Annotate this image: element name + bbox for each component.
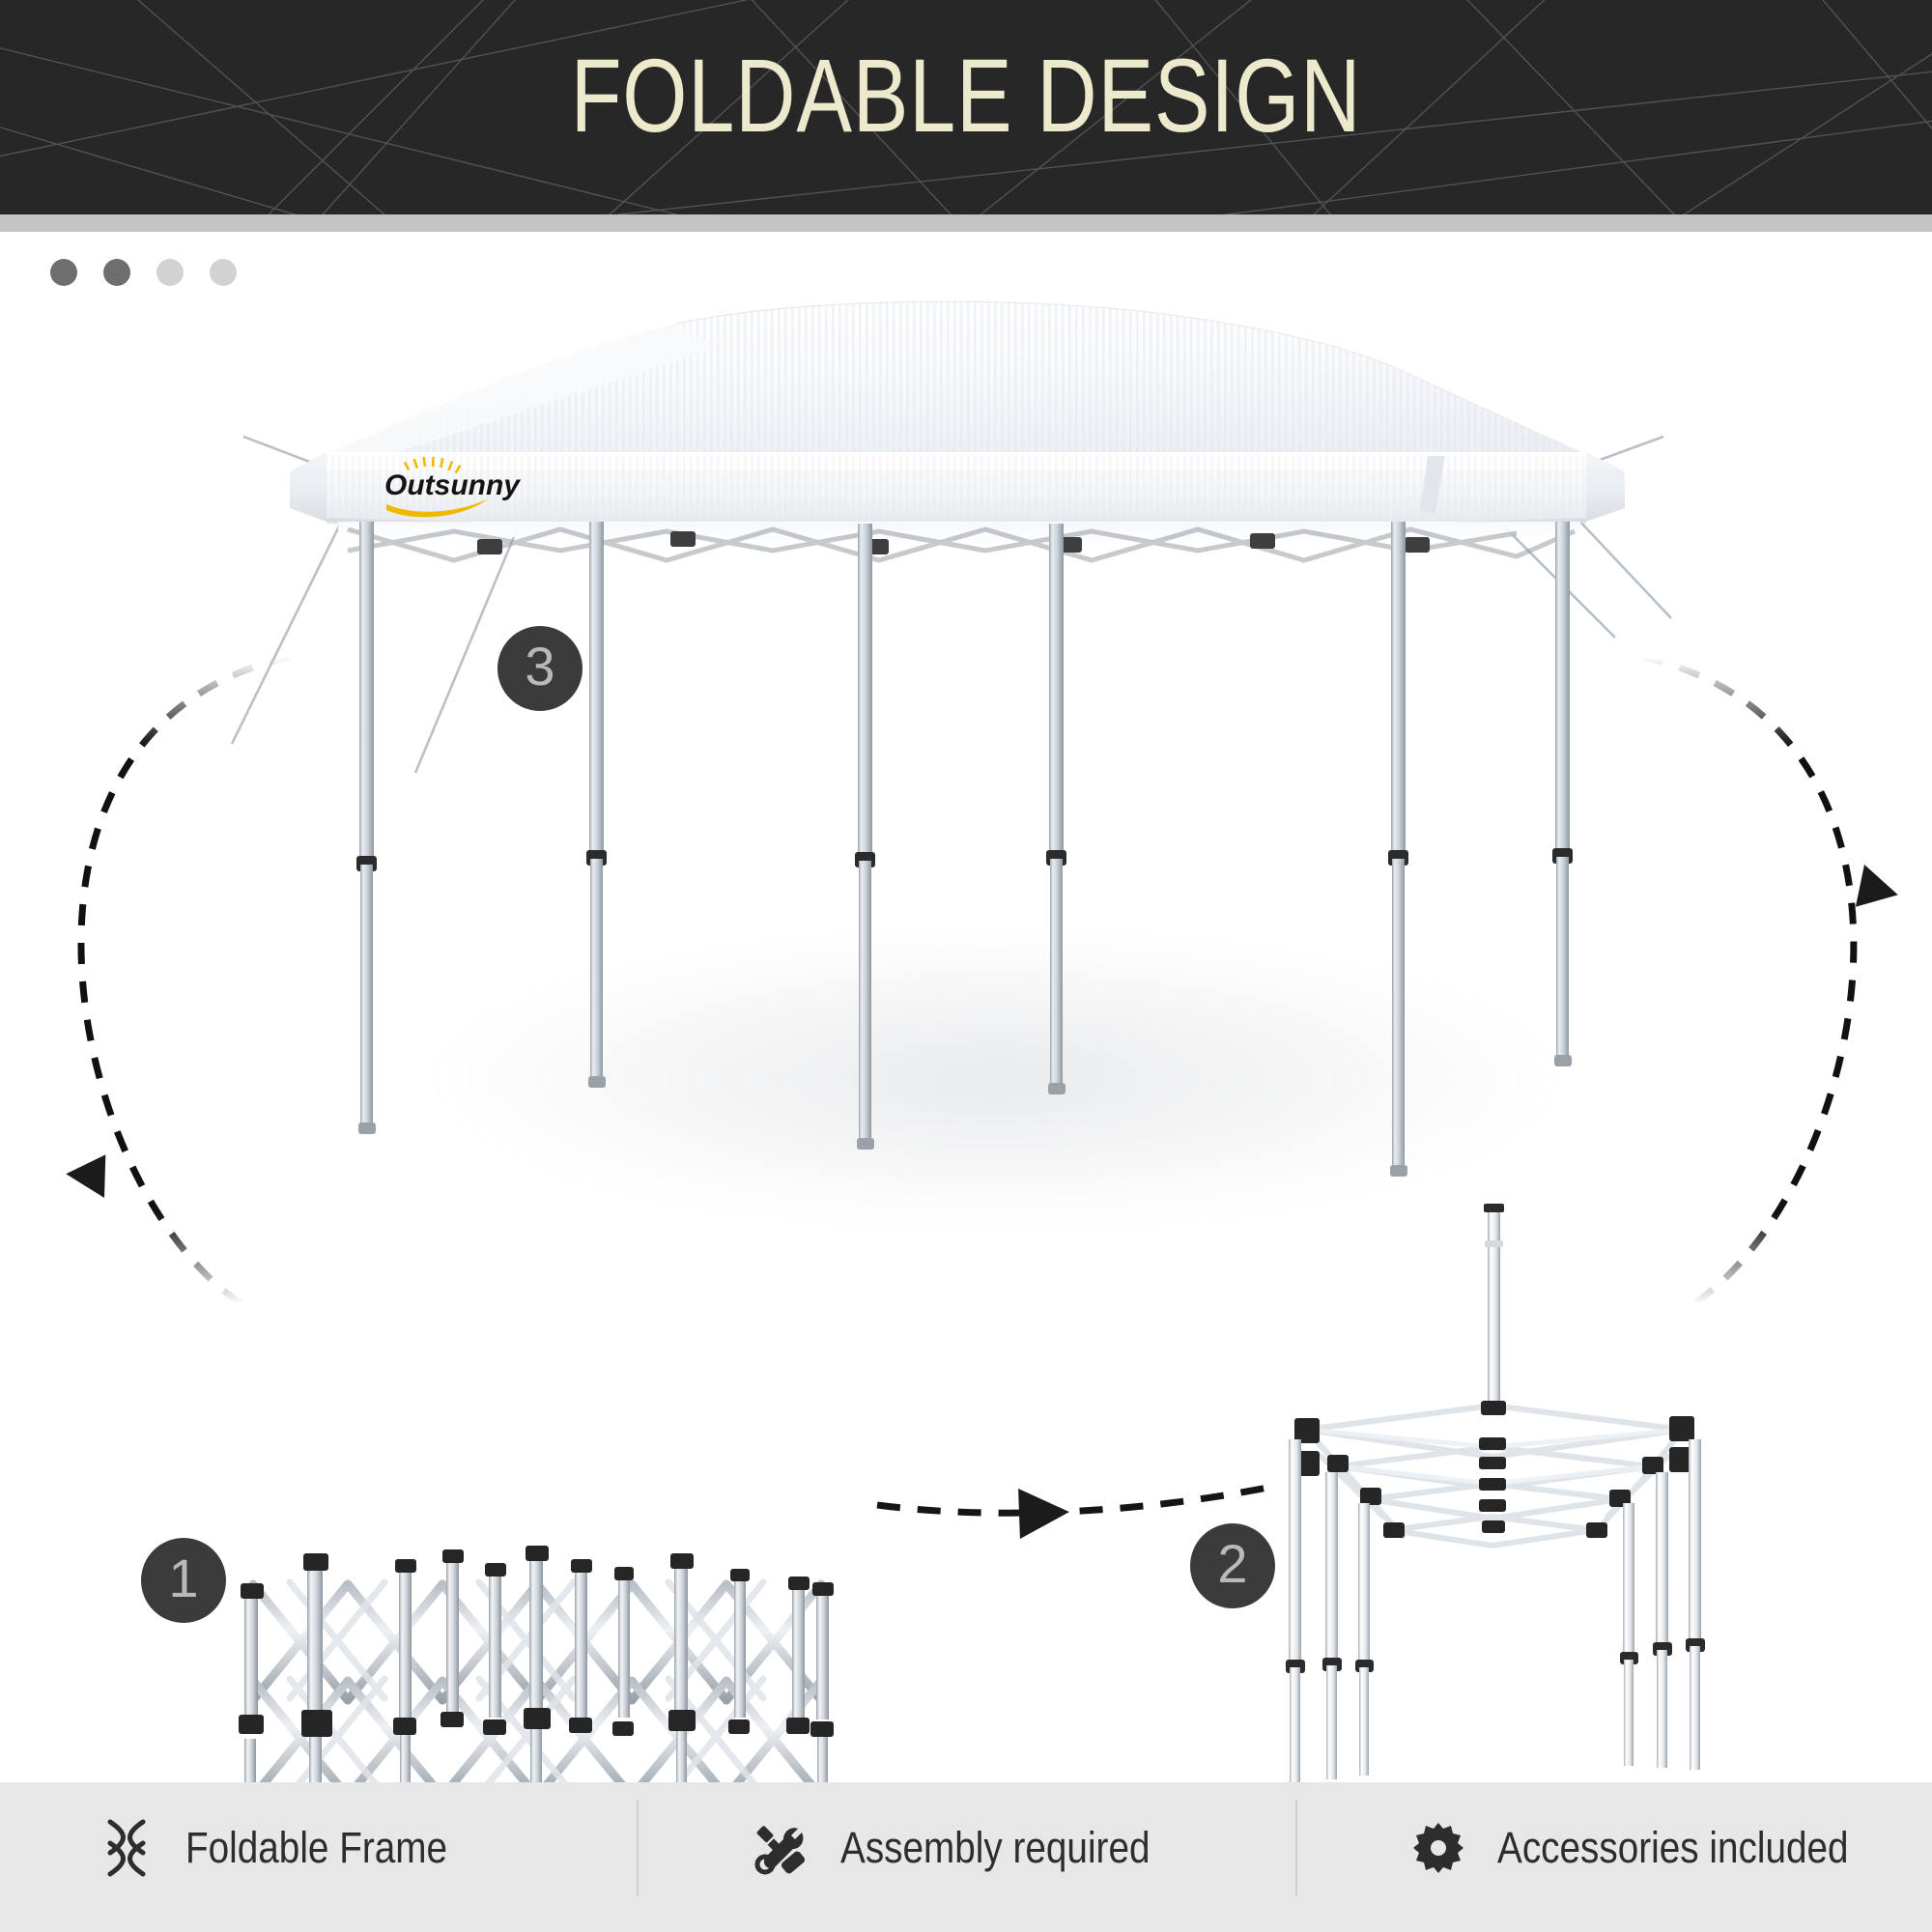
feature-accessories-included: Accessories included bbox=[1408, 1800, 1906, 1896]
header-banner: FOLDABLE DESIGN bbox=[0, 0, 1932, 214]
feature-foldable-frame: Foldable Frame bbox=[97, 1800, 490, 1896]
header-underbar bbox=[0, 214, 1932, 232]
lattice-icon bbox=[97, 1818, 156, 1878]
expanded-legs bbox=[1286, 1439, 1705, 1782]
footer-divider-2 bbox=[1295, 1800, 1297, 1896]
illustration-stage: Outsunny bbox=[0, 232, 1932, 1782]
feature-label-foldable-frame: Foldable Frame bbox=[185, 1823, 447, 1873]
gear-icon bbox=[1408, 1818, 1468, 1878]
footer-divider-1 bbox=[637, 1800, 639, 1896]
feature-footer: Foldable Frame bbox=[0, 1782, 1932, 1932]
center-pole bbox=[1484, 1204, 1504, 1410]
step-badge-1: 1 bbox=[141, 1538, 226, 1623]
expanded-frame-illustration bbox=[0, 232, 1932, 1782]
step-badge-2: 2 bbox=[1190, 1523, 1275, 1608]
feature-assembly-required: Assembly required bbox=[752, 1800, 1201, 1896]
center-hub-joints bbox=[1479, 1401, 1506, 1533]
feature-label-accessories-included: Accessories included bbox=[1497, 1823, 1849, 1873]
tools-icon bbox=[752, 1818, 811, 1878]
infographic-page: FOLDABLE DESIGN bbox=[0, 0, 1932, 1932]
feature-label-assembly-required: Assembly required bbox=[840, 1823, 1150, 1873]
step-badge-3: 3 bbox=[497, 626, 582, 711]
page-title: FOLDABLE DESIGN bbox=[193, 0, 1739, 214]
